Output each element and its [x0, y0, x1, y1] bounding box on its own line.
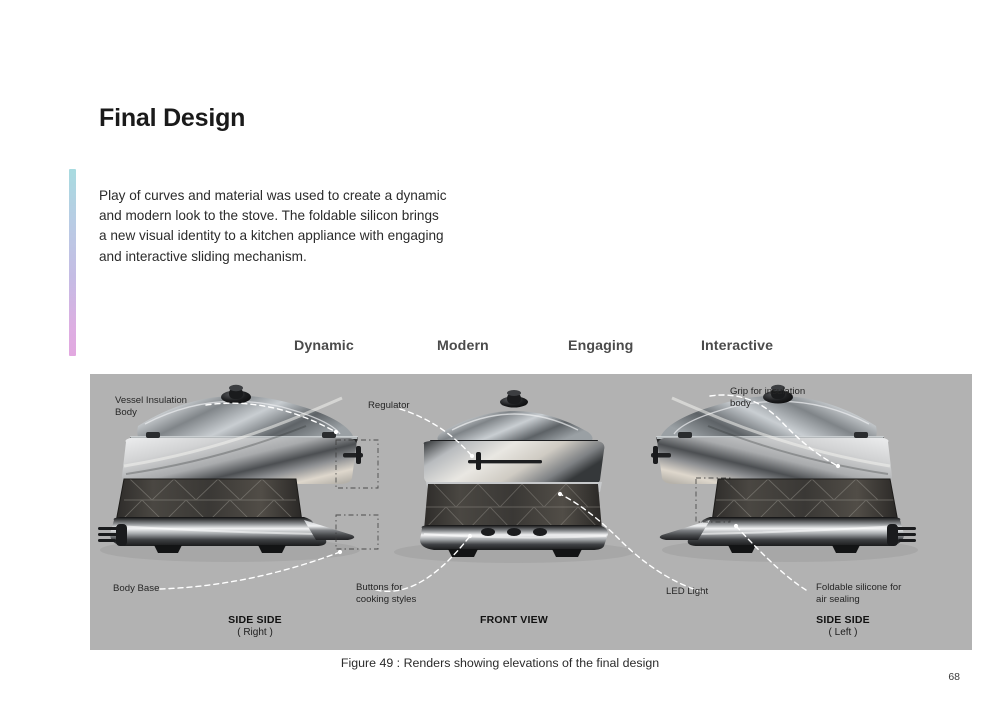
body-line-2: and modern look to the stove. The foldab…	[99, 206, 499, 226]
cooking-style-buttons	[481, 528, 547, 536]
render-panel: Vessel Insulation Body Body Base Regulat…	[90, 374, 972, 650]
portfolio-page: Final Design Play of curves and material…	[0, 0, 1000, 707]
render-side-left	[651, 385, 918, 562]
annotation-buttons-for-cooking-styles: Buttons for cooking styles	[356, 582, 416, 607]
view-title-front: FRONT VIEW	[434, 614, 594, 626]
annotation-regulator: Regulator	[368, 400, 410, 412]
product-renders-illustration	[90, 374, 972, 650]
figure-caption: Figure 49 : Renders showing elevations o…	[0, 656, 1000, 670]
render-front-view	[394, 390, 634, 563]
page-number: 68	[948, 671, 960, 683]
keyword-engaging: Engaging	[568, 338, 633, 354]
view-title-side-right: SIDE SIDE	[175, 614, 335, 626]
view-title-side-left: SIDE SIDE	[763, 614, 923, 626]
gradient-accent-bar	[69, 169, 76, 356]
annotation-led-light: LED Light	[666, 586, 708, 598]
view-caption-side-right: SIDE SIDE ( Right )	[175, 614, 335, 638]
body-line-3: a new visual identity to a kitchen appli…	[99, 226, 499, 246]
annotation-grip-for-insulation-body: Grip for insulation body	[730, 386, 805, 411]
body-paragraph: Play of curves and material was used to …	[99, 186, 499, 267]
annotation-body-base: Body Base	[113, 583, 159, 595]
view-subtitle-side-right: ( Right )	[175, 627, 335, 638]
view-caption-side-left: SIDE SIDE ( Left )	[763, 614, 923, 638]
view-subtitle-side-left: ( Left )	[763, 627, 923, 638]
keyword-dynamic: Dynamic	[294, 338, 354, 354]
body-line-1: Play of curves and material was used to …	[99, 186, 499, 206]
annotation-foldable-silicone: Foldable silicone for air sealing	[816, 582, 901, 607]
page-title: Final Design	[99, 104, 245, 133]
keyword-interactive: Interactive	[701, 338, 773, 354]
keyword-modern: Modern	[437, 338, 489, 354]
body-line-4: and interactive sliding mechanism.	[99, 247, 499, 267]
annotation-vessel-insulation-body: Vessel Insulation Body	[115, 395, 187, 420]
view-caption-front: FRONT VIEW	[434, 614, 594, 627]
keyword-row: Dynamic Modern Engaging Interactive	[260, 338, 860, 360]
